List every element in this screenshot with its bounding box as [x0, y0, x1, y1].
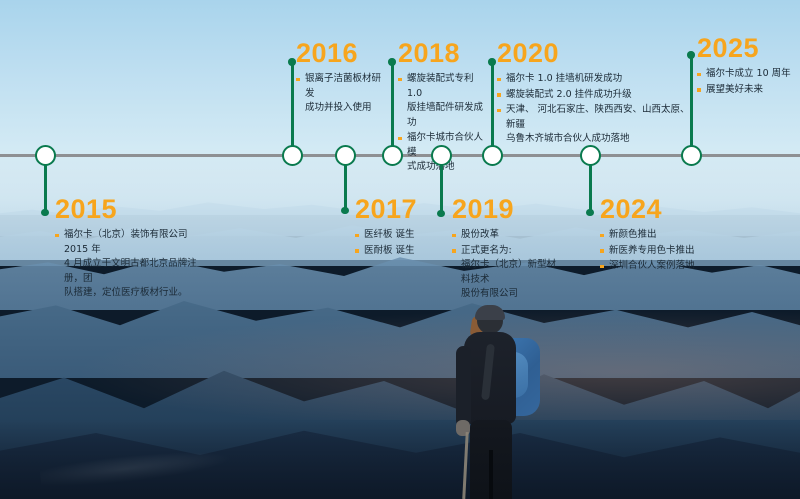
bullet-item: 股份改革	[452, 228, 557, 243]
stem-end-dot-2025	[687, 51, 695, 59]
year-label-2015: 2015	[55, 194, 205, 224]
timeline-node-2017[interactable]	[335, 145, 356, 166]
arm	[456, 346, 471, 428]
stem-2020	[491, 62, 494, 155]
bullet-list-2017: 医纤板 诞生 医耐板 诞生	[355, 228, 435, 258]
timeline-entry-2017[interactable]: 2017 医纤板 诞生 医耐板 诞生	[355, 194, 435, 259]
stem-end-dot-2018	[388, 58, 396, 66]
year-label-2018: 2018	[398, 38, 490, 68]
trekking-pole	[462, 432, 469, 499]
timeline-node-2019[interactable]	[431, 145, 452, 166]
timeline-node-2018[interactable]	[382, 145, 403, 166]
stem-2018	[391, 62, 394, 155]
bullet-item: 医耐板 诞生	[355, 244, 435, 259]
bullet-list-2019: 股份改革 正式更名为: 福尔卡（北京）新型材料技术 股份有限公司	[452, 228, 557, 302]
hiker-figure	[440, 300, 560, 499]
year-label-2025: 2025	[697, 33, 797, 63]
timeline-node-2025[interactable]	[681, 145, 702, 166]
bullet-item: 螺旋装配式 2.0 挂件成功升级	[497, 88, 697, 103]
year-label-2019: 2019	[452, 194, 557, 224]
bullet-item: 深圳合伙人案例落地	[600, 259, 720, 274]
bullet-item: 展望美好未来	[697, 83, 797, 98]
stem-end-dot-2020	[488, 58, 496, 66]
bullet-list-2025: 福尔卡成立 10 周年 展望美好未来	[697, 67, 797, 97]
bullet-item: 福尔卡 1.0 挂墙机研发成功	[497, 72, 697, 87]
bullet-item: 新医养专用色卡推出	[600, 244, 720, 259]
timeline-entry-2015[interactable]: 2015 福尔卡（北京）装饰有限公司 2015 年 4 月成立于文明古都北京品牌…	[55, 194, 205, 302]
bullet-list-2020: 福尔卡 1.0 挂墙机研发成功 螺旋装配式 2.0 挂件成功升级 天津、 河北石…	[497, 72, 697, 147]
stem-end-dot-2015	[41, 209, 49, 217]
timeline-node-2020[interactable]	[482, 145, 503, 166]
bullet-item: 螺旋装配式专利 1.0 版挂墙配件研发成功	[398, 72, 490, 130]
sunlit-ridge-glow	[0, 300, 800, 420]
stem-end-dot-2024	[586, 209, 594, 217]
stem-end-dot-2019	[437, 210, 445, 218]
timeline-node-2015[interactable]	[35, 145, 56, 166]
bullet-list-2015: 福尔卡（北京）装饰有限公司 2015 年 4 月成立于文明古都北京品牌注册，团 …	[55, 228, 205, 301]
year-label-2024: 2024	[600, 194, 720, 224]
leg-gap	[489, 450, 493, 499]
timeline-node-2024[interactable]	[580, 145, 601, 166]
bullet-item: 医纤板 诞生	[355, 228, 435, 243]
year-label-2017: 2017	[355, 194, 435, 224]
bullet-item: 天津、 河北石家庄、陕西西安、山西太原、新疆 乌鲁木齐城市合伙人成功落地	[497, 103, 697, 147]
year-label-2020: 2020	[497, 38, 697, 68]
timeline-entry-2016[interactable]: 2016 银离子洁菌板材研发 成功并投入使用	[296, 38, 388, 117]
bullet-list-2024: 新颜色推出 新医养专用色卡推出 深圳合伙人案例落地	[600, 228, 720, 274]
timeline-entry-2024[interactable]: 2024 新颜色推出 新医养专用色卡推出 深圳合伙人案例落地	[600, 194, 720, 275]
infographic-canvas: 2016 银离子洁菌板材研发 成功并投入使用 2018 螺旋装配式专利 1.0 …	[0, 0, 800, 499]
year-label-2016: 2016	[296, 38, 388, 68]
bullet-list-2016: 银离子洁菌板材研发 成功并投入使用	[296, 72, 388, 116]
stem-2016	[291, 62, 294, 155]
timeline-entry-2020[interactable]: 2020 福尔卡 1.0 挂墙机研发成功 螺旋装配式 2.0 挂件成功升级 天津…	[497, 38, 697, 148]
timeline-entry-2025[interactable]: 2025 福尔卡成立 10 周年 展望美好未来	[697, 33, 797, 98]
bullet-item: 福尔卡成立 10 周年	[697, 67, 797, 82]
stem-end-dot-2017	[341, 207, 349, 215]
stem-2025	[690, 55, 693, 155]
timeline-node-2016[interactable]	[282, 145, 303, 166]
bullet-item: 福尔卡（北京）装饰有限公司 2015 年 4 月成立于文明古都北京品牌注册，团 …	[55, 228, 205, 301]
bullet-item: 新颜色推出	[600, 228, 720, 243]
timeline-entry-2019[interactable]: 2019 股份改革 正式更名为: 福尔卡（北京）新型材料技术 股份有限公司	[452, 194, 557, 303]
bullet-item: 银离子洁菌板材研发 成功并投入使用	[296, 72, 388, 116]
valley-shadow	[0, 420, 800, 499]
stem-end-dot-2016	[288, 58, 296, 66]
bullet-item: 正式更名为: 福尔卡（北京）新型材料技术 股份有限公司	[452, 244, 557, 302]
cap	[475, 305, 505, 320]
